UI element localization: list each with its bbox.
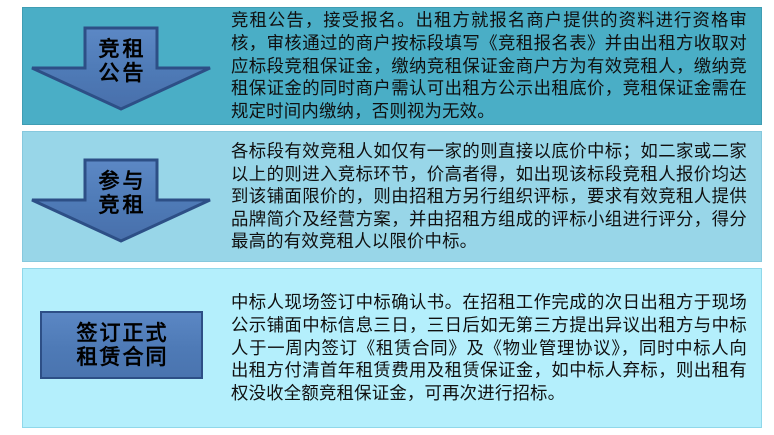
shape-cell-announcement: 竞租 公告 [23, 8, 219, 124]
text-cell-contract: 中标人现场签订中标确认书。在招租工作完成的次日出租方于现场公示铺面中标信息三日，… [219, 285, 761, 410]
down-arrow-icon [29, 26, 213, 112]
body-text-participation: 各标段有效竞租人如仅有一家的则直接以底价中标；如二家或二家以上的则进入竞标环节，… [231, 140, 747, 253]
flow-row-participation: 参与 竞租 各标段有效竞租人如仅有一家的则直接以底价中标；如二家或二家以上的则进… [22, 131, 762, 262]
shape-cell-participation: 参与 竞租 [23, 132, 219, 261]
rectangle-label-contract: 签订正式 租赁合同 [75, 321, 169, 369]
text-cell-announcement: 竞租公告，接受报名。出租方就报名商户提供的资料进行资格审核，审核通过的商户按标段… [219, 7, 761, 125]
rectangle-shape-contract[interactable]: 签订正式 租赁合同 [40, 311, 203, 379]
shape-cell-contract: 签订正式 租赁合同 [23, 269, 219, 427]
flow-row-announcement: 竞租 公告 竞租公告，接受报名。出租方就报名商户提供的资料进行资格审核，审核通过… [22, 7, 762, 125]
down-arrow-shape-announcement[interactable]: 竞租 公告 [29, 26, 213, 112]
down-arrow-icon [29, 158, 213, 244]
down-arrow-shape-participation[interactable]: 参与 竞租 [29, 158, 213, 244]
body-text-announcement: 竞租公告，接受报名。出租方就报名商户提供的资料进行资格审核，审核通过的商户按标段… [231, 9, 747, 122]
body-text-contract: 中标人现场签订中标确认书。在招租工作完成的次日出租方于现场公示铺面中标信息三日，… [231, 291, 747, 404]
text-cell-participation: 各标段有效竞租人如仅有一家的则直接以底价中标；如二家或二家以上的则进入竞标环节，… [219, 134, 761, 259]
shape-label-line: 租赁合同 [75, 345, 169, 369]
flow-diagram: 竞租 公告 竞租公告，接受报名。出租方就报名商户提供的资料进行资格审核，审核通过… [0, 0, 774, 435]
flow-row-contract: 签订正式 租赁合同 中标人现场签订中标确认书。在招租工作完成的次日出租方于现场公… [22, 268, 762, 428]
shape-label-line: 签订正式 [75, 321, 169, 345]
